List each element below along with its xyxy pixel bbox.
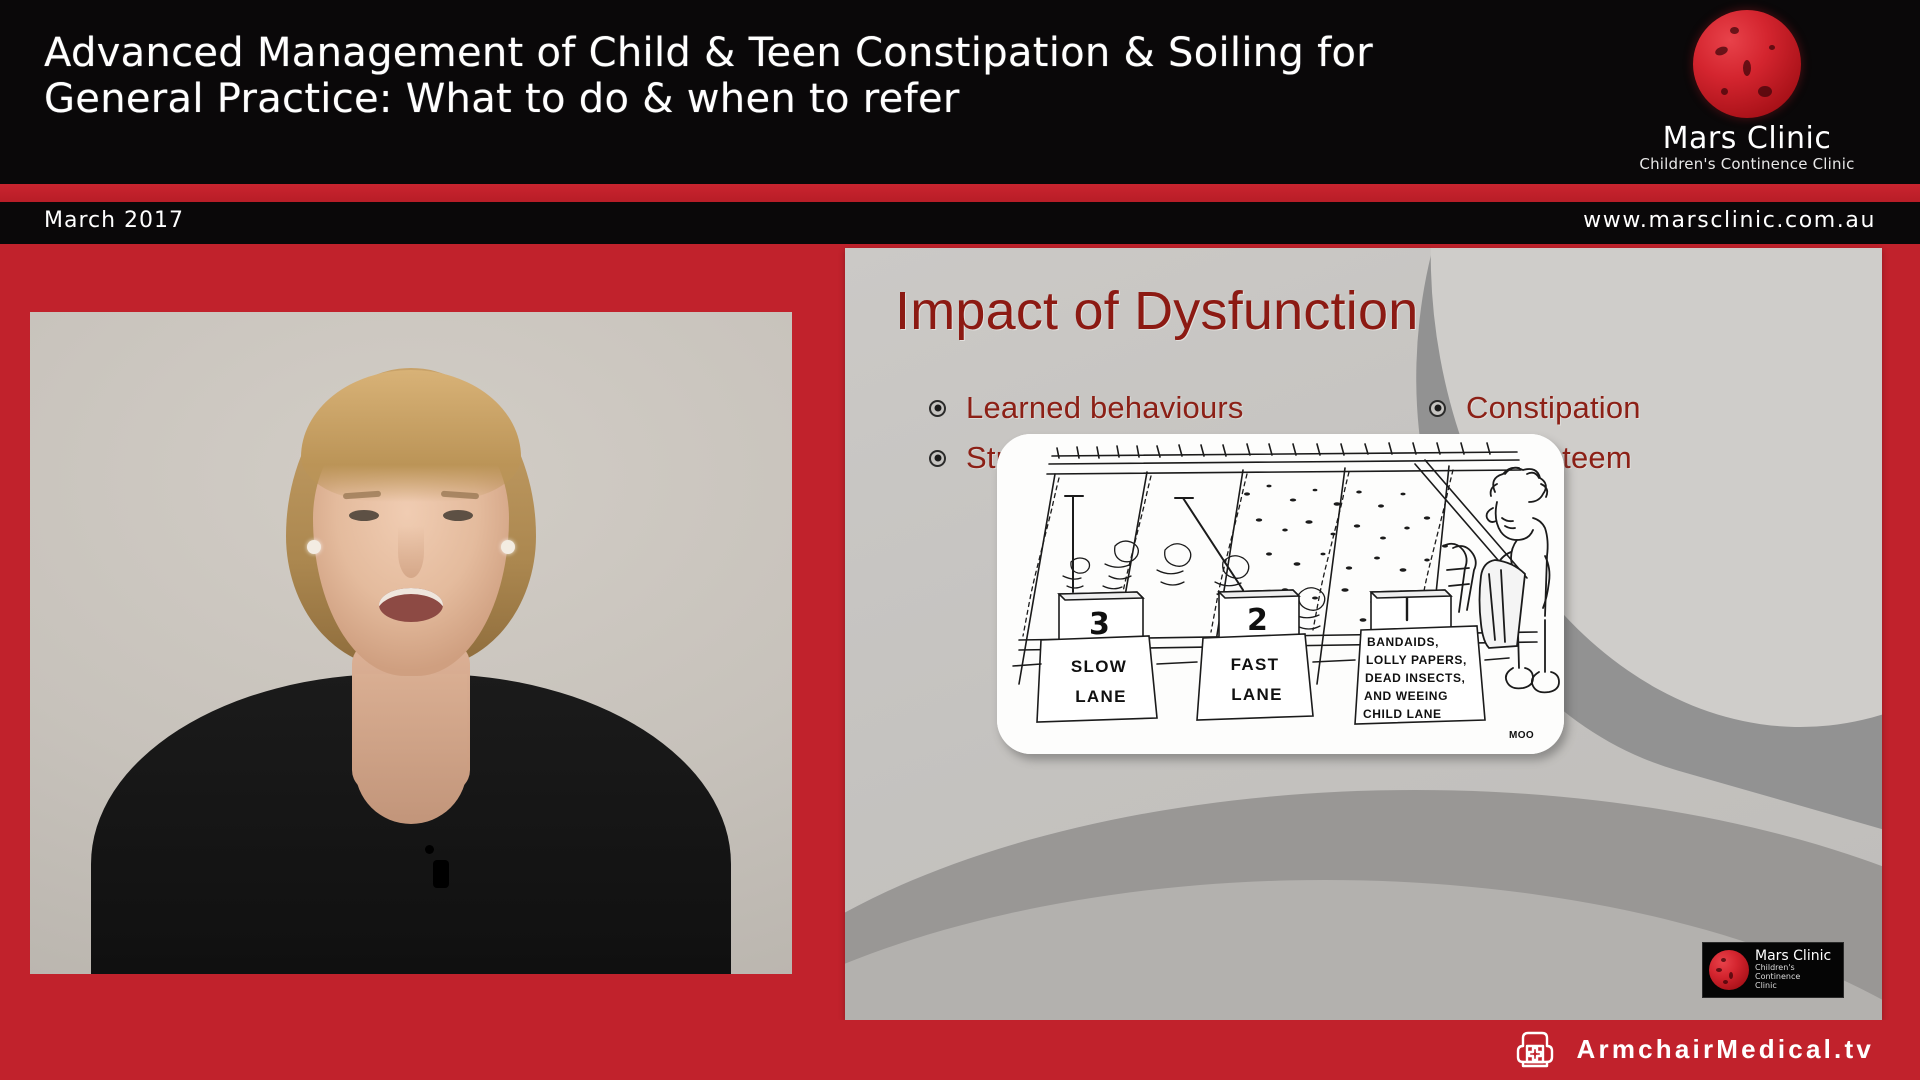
list-item: Constipation [1429, 390, 1797, 426]
presenter-eye-right [443, 510, 473, 521]
presenter-video[interactable] [30, 312, 792, 974]
cartoon-lane-number-3: 3 [1089, 607, 1110, 642]
bullet-label: Learned behaviours [966, 390, 1244, 426]
presenter-lapel-microphone [433, 860, 449, 888]
cartoon-sign-child-lane-line4: AND WEEING [1364, 689, 1448, 703]
cartoon-sign-fast-lane-line2: LANE [1231, 685, 1282, 704]
header-red-divider [0, 184, 1920, 202]
mars-clinic-logo: Mars Clinic Children's Continence Clinic [1622, 6, 1872, 178]
cartoon-sign-child-lane-line3: DEAD INSECTS, [1365, 671, 1465, 685]
slide-mars-clinic-logo: Mars Clinic Children's Continence Clinic [1702, 942, 1844, 998]
radio-dot-icon [1429, 400, 1446, 417]
presenter-earring-right [501, 540, 515, 554]
radio-dot-icon [929, 400, 946, 417]
cartoon-sign-fast-lane-line1: FAST [1231, 655, 1280, 674]
presentation-date: March 2017 [44, 208, 184, 233]
slide-logo-name: Mars Clinic [1755, 949, 1837, 965]
list-item: Learned behaviours [929, 390, 1345, 426]
mars-clinic-logo-tagline: Children's Continence Clinic [1622, 156, 1872, 173]
page-footer: ArmchairMedical.tv [0, 1020, 1920, 1080]
presenter-mic-clip [425, 845, 434, 854]
radio-dot-icon [929, 450, 946, 467]
cartoon-sign-child-lane-line1: BANDAIDS, [1367, 635, 1439, 649]
bullet-label: Constipation [1466, 390, 1641, 426]
page-title-line-2: General Practice: What to do & when to r… [44, 76, 1564, 122]
presenter-eye-left [349, 510, 379, 521]
page-header: Advanced Management of Child & Teen Cons… [0, 0, 1920, 184]
mars-planet-icon [1693, 10, 1801, 118]
presenter-neckline [355, 674, 467, 824]
slide-logo-tagline-line1: Children's Continence [1755, 964, 1837, 982]
pool-lanes-cartoon: SLOW LANE FAST LANE BANDAIDS, LOLLY PAPE… [997, 434, 1564, 754]
presenter-mouth [379, 588, 443, 622]
cartoon-signature: MOO [1509, 730, 1534, 741]
armchair-cross-icon [1513, 1028, 1557, 1070]
lecture-player: Advanced Management of Child & Teen Cons… [0, 0, 1920, 1080]
page-title: Advanced Management of Child & Teen Cons… [44, 30, 1564, 122]
slide-logo-tagline-line2: Clinic [1755, 982, 1837, 991]
cartoon-sign-slow-lane-line2: LANE [1075, 687, 1126, 706]
page-title-line-1: Advanced Management of Child & Teen Cons… [44, 30, 1564, 76]
cartoon-sign-child-lane-line5: CHILD LANE [1363, 707, 1442, 721]
armchair-medical-brand[interactable]: ArmchairMedical.tv [1513, 1028, 1874, 1070]
cartoon-sign-child-lane-line2: LOLLY PAPERS, [1366, 653, 1467, 667]
slide-viewer[interactable]: Impact of Dysfunction Learned behaviours… [845, 248, 1882, 1020]
mars-planet-icon [1709, 950, 1749, 990]
presenter-earring-left [307, 540, 321, 554]
presenter-nose [398, 526, 424, 578]
sub-header-bar: March 2017 www.marsclinic.com.au [0, 202, 1920, 244]
slide-cartoon-image: SLOW LANE FAST LANE BANDAIDS, LOLLY PAPE… [997, 434, 1564, 754]
slide-title: Impact of Dysfunction [895, 280, 1418, 342]
clinic-website-url[interactable]: www.marsclinic.com.au [1583, 208, 1876, 233]
cartoon-sign-slow-lane-line1: SLOW [1071, 657, 1127, 676]
armchair-medical-label: ArmchairMedical.tv [1577, 1034, 1874, 1065]
mars-clinic-logo-name: Mars Clinic [1622, 122, 1872, 155]
cartoon-lane-number-2: 2 [1247, 603, 1268, 638]
